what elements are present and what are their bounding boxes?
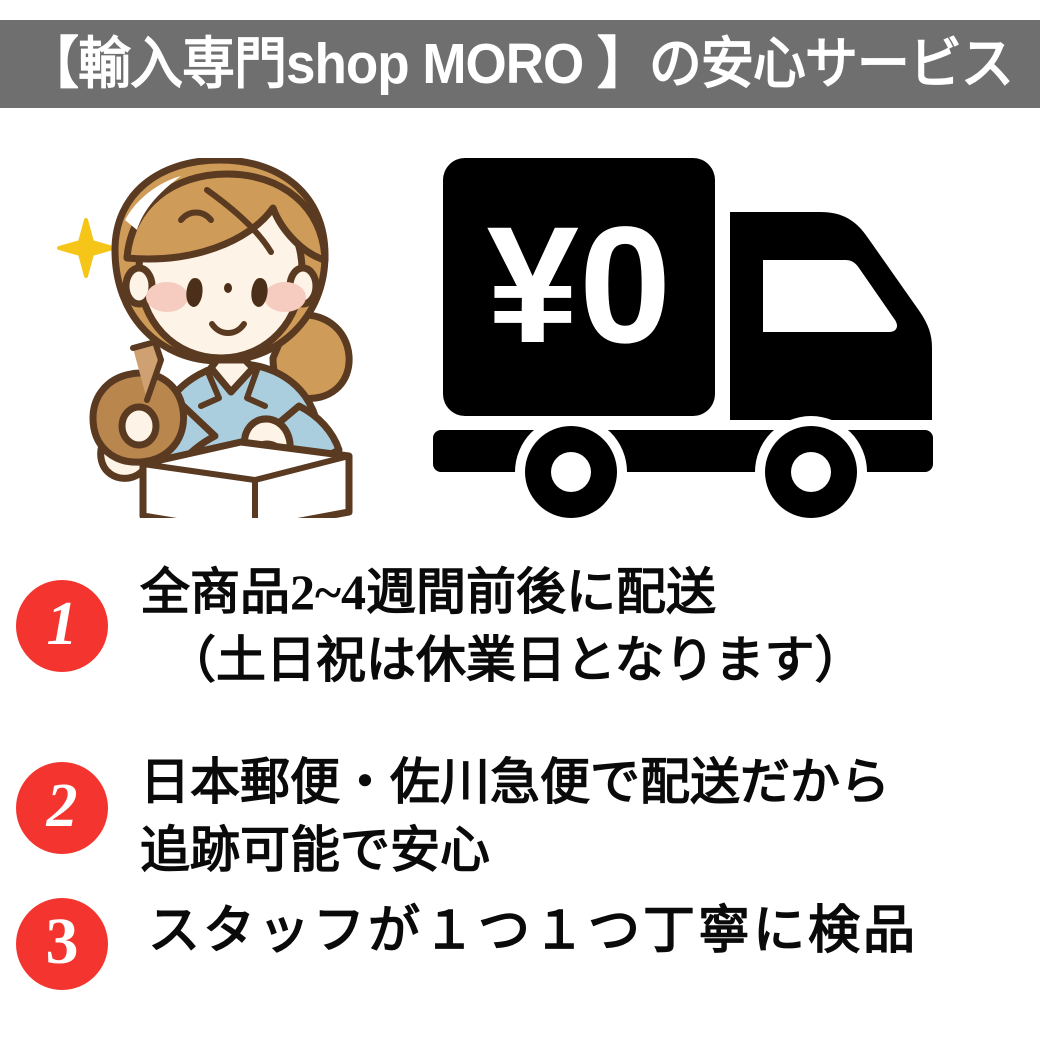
list-item-line: 追跡可能で安心 <box>140 816 1030 884</box>
list-item-line: 日本郵便・佐川急便で配送だから <box>140 748 1030 816</box>
header-banner: 【輸入専門shop MORO 】の安心サービス <box>0 20 1040 108</box>
list-number-label: 1 <box>47 593 78 655</box>
list-number-label: 2 <box>47 775 78 837</box>
list-item-line: スタッフが１つ１つ丁寧に検品 <box>148 898 1038 966</box>
truck-cargo-label: ¥0 <box>487 193 672 378</box>
sparkle-icon <box>59 220 113 276</box>
list-item-text: 全商品2~4週間前後に配送 （土日祝は休業日となります） <box>140 558 1030 694</box>
list-number-badge: 2 <box>16 762 108 854</box>
list-item-text: スタッフが１つ１つ丁寧に検品 <box>148 898 1038 966</box>
staff-packing-box-illustration <box>55 158 395 518</box>
list-number-badge: 3 <box>16 898 108 990</box>
list-number-label: 3 <box>46 909 79 975</box>
banner-title: 【輸入専門shop MORO 】の安心サービス <box>0 36 1013 92</box>
free-shipping-truck-icon: ¥0 <box>425 150 1000 520</box>
service-list: 1 全商品2~4週間前後に配送 （土日祝は休業日となります） 2 日本郵便・佐川… <box>0 540 1040 1040</box>
list-item-text: 日本郵便・佐川急便で配送だから 追跡可能で安心 <box>140 748 1030 884</box>
list-item-line: 全商品2~4週間前後に配送 <box>140 558 1030 626</box>
illustration-row: ¥0 <box>0 130 1040 530</box>
list-number-badge: 1 <box>16 580 108 672</box>
list-item-line: （土日祝は休業日となります） <box>140 626 1030 694</box>
promo-banner-page: 【輸入専門shop MORO 】の安心サービス <box>0 0 1040 1040</box>
